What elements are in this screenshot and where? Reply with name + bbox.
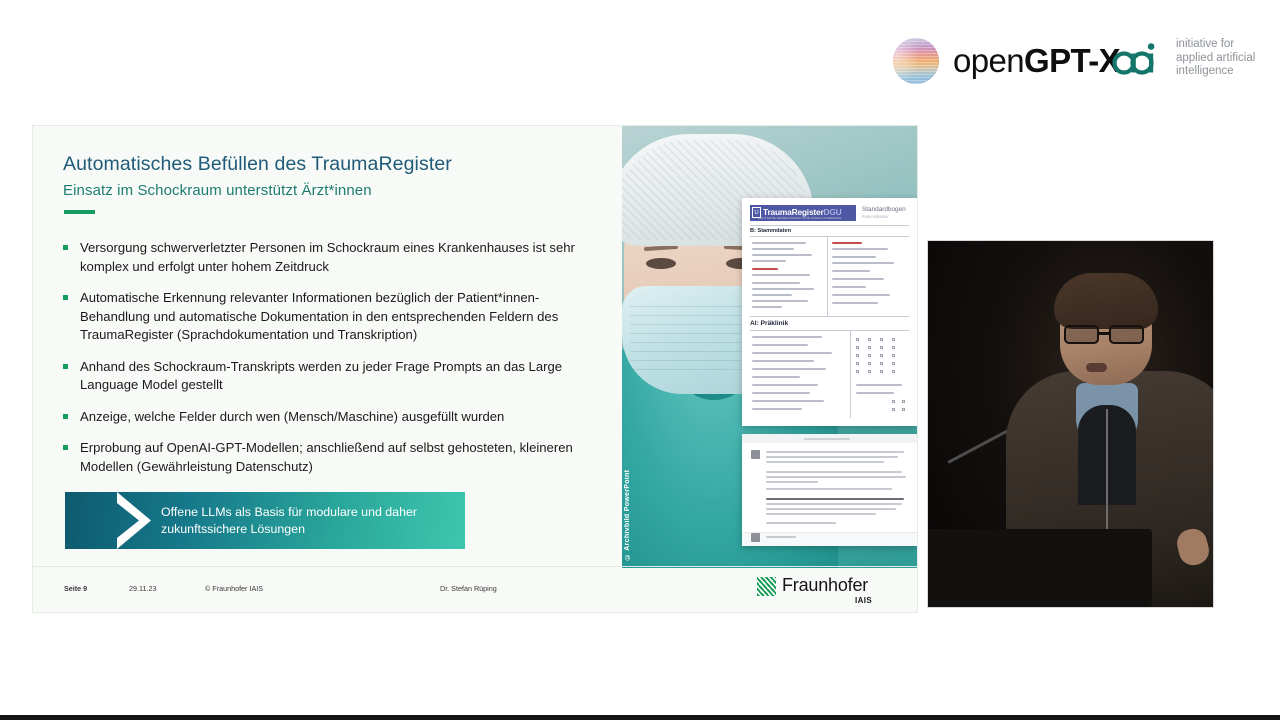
form-field-line <box>752 336 822 338</box>
opengptx-orb-icon <box>893 38 939 84</box>
bullet-text: Erprobung auf OpenAI-GPT-Modellen; ansch… <box>80 440 573 474</box>
title-accent-rule <box>64 210 95 214</box>
bullet-text: Anhand des Schockraum-Transkripts werden… <box>80 359 562 393</box>
chat-avatar-user <box>751 450 760 459</box>
form-field-line <box>752 248 794 250</box>
form-field-line <box>752 344 808 346</box>
fraunhofer-logo: Fraunhofer IAIS <box>757 575 897 607</box>
form-divider <box>750 236 909 237</box>
chat-header <box>742 434 917 443</box>
form-checkbox <box>902 400 905 403</box>
form-checkbox <box>902 408 905 411</box>
form-divider <box>750 330 909 331</box>
slide-content-column: Automatisches Befüllen des TraumaRegiste… <box>33 126 622 568</box>
lapel-mic-cable <box>1106 409 1108 537</box>
banner-text: Offene LLMs als Basis für modulare und d… <box>161 504 451 537</box>
chat-text-line <box>766 481 818 483</box>
bullet-list: Versorgung schwerverletzter Personen im … <box>63 239 608 476</box>
form-brand-banner: U TraumaRegisterDGU DEUTSCHE GESELLSCHAF… <box>750 205 856 221</box>
form-field-line <box>752 408 802 410</box>
bullet-square-icon <box>63 245 68 250</box>
glasses-bridge <box>1099 332 1109 335</box>
top-logo-bar: openGPT-X initiative for applied artific… <box>0 0 1280 118</box>
chat-text-line <box>766 508 896 510</box>
aai-mark-icon <box>1112 38 1164 78</box>
chat-text-line <box>766 451 904 453</box>
bullet-square-icon <box>63 364 68 369</box>
chat-text-line-bold <box>766 498 904 500</box>
bullet-text: Versorgung schwerverletzter Personen im … <box>80 240 575 274</box>
list-item: Anzeige, welche Felder durch wen (Mensch… <box>63 408 608 427</box>
form-field-line <box>832 262 894 264</box>
form-sheet-label: Standardbogen PUSH VERSION <box>862 206 906 219</box>
form-checkbox <box>892 370 895 373</box>
slide-subtitle: Einsatz im Schockraum unterstützt Ärzt*i… <box>63 182 372 199</box>
aai-tagline-line3: intelligence <box>1176 65 1255 79</box>
bottom-letterbox-bar <box>0 715 1280 720</box>
form-checkbox <box>880 338 883 341</box>
form-checkbox <box>868 346 871 349</box>
slide-photo: © Archivbild PowerPoint U TraumaRegister… <box>622 126 918 568</box>
photo-eye-left <box>646 258 676 269</box>
bullet-square-icon <box>63 445 68 450</box>
bullet-square-icon <box>63 414 68 419</box>
form-checkbox <box>892 362 895 365</box>
podium <box>927 529 1152 607</box>
form-field-line <box>856 392 894 394</box>
glasses-lens-left <box>1064 325 1099 344</box>
list-item: Erprobung auf OpenAI-GPT-Modellen; ansch… <box>63 439 608 476</box>
form-checkbox <box>856 362 859 365</box>
form-checkbox <box>868 370 871 373</box>
form-checkbox <box>880 370 883 373</box>
chat-text-line <box>766 522 836 524</box>
form-checkbox <box>856 370 859 373</box>
glasses-lens-right <box>1109 325 1144 344</box>
form-subline: DEUTSCHE GESELLSCHAFT FÜR UNFALLCHIRURGI… <box>758 216 841 220</box>
opengptx-wordmark: openGPT-X <box>953 42 1120 80</box>
form-field-line <box>752 306 782 308</box>
form-field-line <box>752 288 814 290</box>
form-field-line <box>752 294 792 296</box>
aai-logo: initiative for applied artificial intell… <box>1112 38 1255 79</box>
chat-text-line <box>766 503 902 505</box>
chat-avatar-assistant <box>751 533 760 542</box>
form-sheet-sub: PUSH VERSION <box>862 215 906 219</box>
form-divider <box>750 316 909 317</box>
bullet-text: Anzeige, welche Felder durch wen (Mensch… <box>80 409 504 424</box>
list-item: Automatische Erkennung relevanter Inform… <box>63 289 608 345</box>
list-item: Versorgung schwerverletzter Personen im … <box>63 239 608 276</box>
aai-tagline-line2: applied artificial <box>1176 52 1255 66</box>
form-checkbox <box>868 354 871 357</box>
form-checkbox <box>892 408 895 411</box>
chat-text-line <box>766 456 898 458</box>
speaker-hair <box>1054 273 1158 329</box>
form-divider <box>750 225 909 226</box>
chat-text-line <box>766 471 902 473</box>
form-section-ai-title: AI: Präklinik <box>750 320 788 327</box>
chat-text-line <box>766 476 906 478</box>
footer-page-number: Seite 9 <box>64 584 87 593</box>
form-column-divider <box>827 236 828 316</box>
form-section-b-title: B: Stammdaten <box>750 228 791 234</box>
form-field-line <box>752 392 810 394</box>
chat-text-line <box>766 488 892 490</box>
form-field-line <box>752 282 800 284</box>
fraunhofer-name: Fraunhofer <box>782 575 868 596</box>
bullet-square-icon <box>63 295 68 300</box>
photo-credit: © Archivbild PowerPoint <box>624 410 635 560</box>
footer-author: Dr. Stefan Rüping <box>440 584 497 593</box>
form-checkbox <box>892 346 895 349</box>
form-field-line <box>752 254 812 256</box>
fraunhofer-institute: IAIS <box>855 596 872 605</box>
form-field-line <box>752 300 808 302</box>
llm-chat-card <box>742 434 917 546</box>
form-column-divider <box>850 330 851 418</box>
presentation-slide: Automatisches Befüllen des TraumaRegiste… <box>32 125 918 613</box>
form-checkbox <box>892 338 895 341</box>
form-checkbox <box>856 346 859 349</box>
form-sheet-name: Standardbogen <box>862 206 906 213</box>
list-item: Anhand des Schockraum-Transkripts werden… <box>63 358 608 395</box>
form-field-line <box>832 278 884 280</box>
bullet-text: Automatische Erkennung relevanter Inform… <box>80 290 558 342</box>
form-field-line <box>832 270 870 272</box>
speaker-video[interactable] <box>927 240 1214 608</box>
opengptx-word-light: open <box>953 42 1024 79</box>
footer-date: 29.11.23 <box>129 584 156 593</box>
footer-copyright: © Fraunhofer IAIS <box>205 584 263 593</box>
key-message-banner: Offene LLMs als Basis für modulare und d… <box>65 492 465 549</box>
chat-text-line <box>766 536 796 538</box>
screen: openGPT-X initiative for applied artific… <box>0 0 1280 720</box>
form-checkbox <box>880 354 883 357</box>
aai-tagline: initiative for applied artificial intell… <box>1176 38 1255 79</box>
opengptx-word-bold: GPT-X <box>1024 42 1120 79</box>
form-field-line-highlight <box>752 268 778 270</box>
form-field-line <box>752 260 786 262</box>
form-checkbox <box>880 362 883 365</box>
form-field-line <box>832 248 888 250</box>
speaker-mouth <box>1086 363 1107 372</box>
form-field-line <box>856 384 902 386</box>
slide-title: Automatisches Befüllen des TraumaRegiste… <box>63 153 452 176</box>
form-checkbox <box>856 338 859 341</box>
form-checkbox <box>892 354 895 357</box>
form-checkbox <box>880 346 883 349</box>
fraunhofer-mark-icon <box>757 577 776 596</box>
chat-footer <box>742 532 917 546</box>
chevron-right-icon <box>117 492 151 549</box>
form-field-line <box>752 376 800 378</box>
aai-tagline-line1: initiative for <box>1176 38 1255 52</box>
form-field-line <box>832 294 890 296</box>
form-checkbox <box>868 362 871 365</box>
form-field-line <box>752 352 832 354</box>
form-field-line <box>752 360 814 362</box>
glasses-icon <box>1064 325 1152 344</box>
opengptx-logo: openGPT-X <box>893 38 1120 84</box>
form-field-line <box>832 256 876 258</box>
form-field-line <box>832 302 878 304</box>
form-field-line <box>752 242 806 244</box>
chat-text-line <box>766 513 876 515</box>
traumaregister-form-card: U TraumaRegisterDGU DEUTSCHE GESELLSCHAF… <box>742 198 917 426</box>
form-field-line <box>752 368 826 370</box>
form-field-line <box>752 384 818 386</box>
form-checkbox <box>868 338 871 341</box>
form-checkbox <box>856 354 859 357</box>
form-field-line <box>752 274 810 276</box>
form-field-line <box>832 286 866 288</box>
form-field-line-highlight <box>832 242 862 244</box>
form-field-line <box>752 400 824 402</box>
form-checkbox <box>892 400 895 403</box>
slide-footer: Seite 9 29.11.23 © Fraunhofer IAIS Dr. S… <box>33 566 918 612</box>
chat-text-line <box>766 461 884 463</box>
